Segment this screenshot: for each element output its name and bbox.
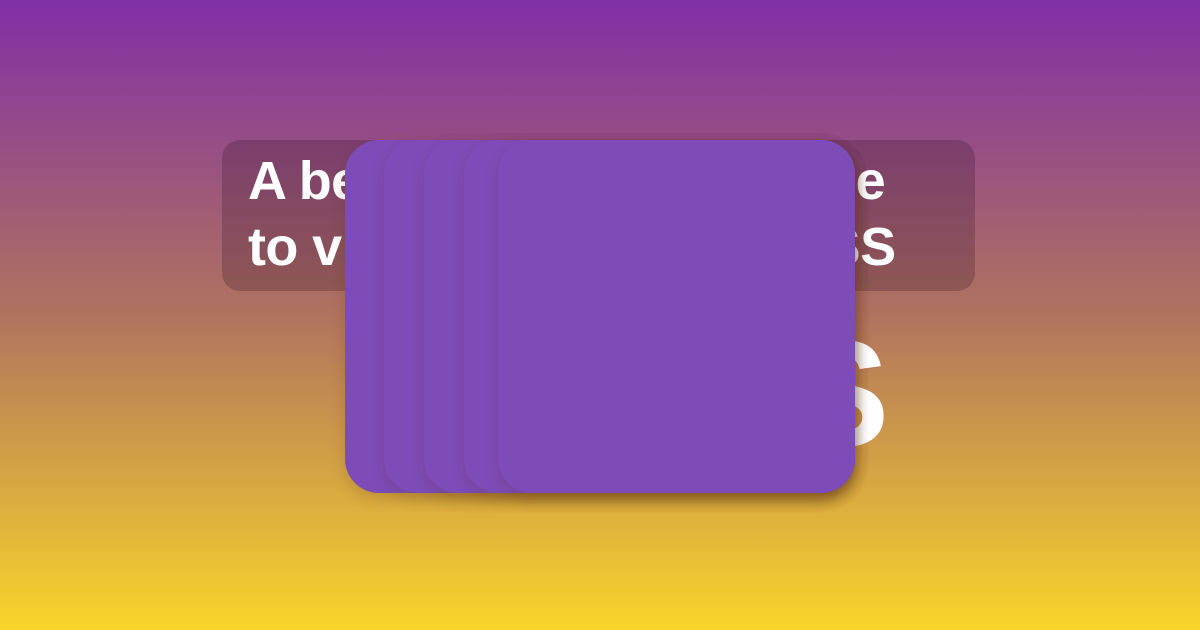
card-front — [498, 140, 855, 493]
og-cover: A beginner-friendly guide to view transi… — [0, 0, 1200, 630]
card-stack — [0, 0, 1200, 630]
